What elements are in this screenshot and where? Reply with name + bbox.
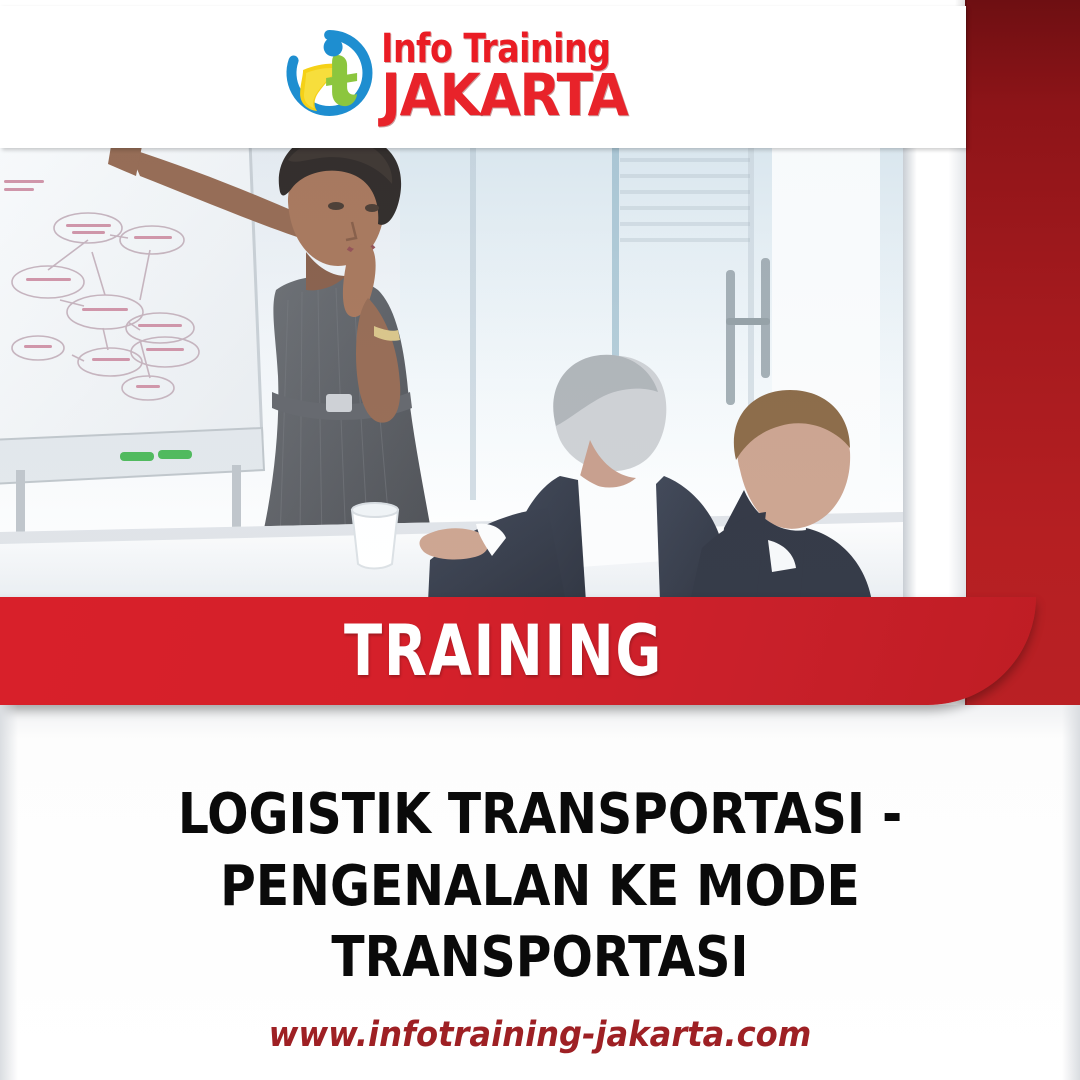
brand-line-2: JAKARTA: [381, 69, 627, 122]
brand-logo[interactable]: Info Training JAKARTA: [273, 21, 649, 133]
training-banner-label: TRAINING: [344, 610, 663, 692]
photo-right-gutter: [903, 140, 966, 602]
training-seminar-photo: [0, 140, 903, 602]
bottom-section: LOGISTIK TRANSPORTASI - PENGENALAN KE MO…: [0, 705, 1080, 1080]
training-poster: Info Training JAKARTA: [0, 0, 1080, 1080]
seminar-photo-illustration: [0, 140, 903, 602]
brand-wordmark: Info Training JAKARTA: [381, 31, 649, 122]
left-edge-shadow: [0, 705, 18, 1080]
right-edge-shadow: [1062, 705, 1080, 1080]
training-banner: TRAINING: [0, 597, 1036, 705]
website-url[interactable]: www.infotraining-jakarta.com: [126, 1015, 954, 1055]
course-title: LOGISTIK TRANSPORTASI - PENGENALAN KE MO…: [149, 779, 932, 994]
info-training-jakarta-logo-icon: [273, 21, 385, 133]
header-card: Info Training JAKARTA: [0, 6, 966, 148]
